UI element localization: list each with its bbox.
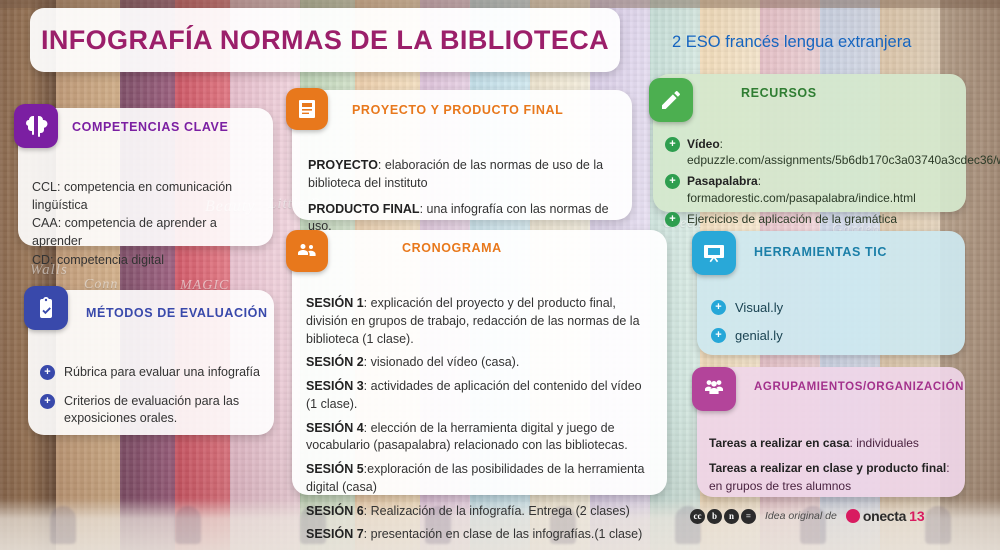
list-item[interactable]: + Vídeo: edpuzzle.com/assignments/5b6db1… (665, 136, 954, 168)
list-item-text: Vídeo: edpuzzle.com/assignments/5b6db170… (687, 136, 1000, 168)
cc-sa-icon: = (741, 509, 756, 524)
metodos-evaluacion-title: MÉTODOS DE EVALUACIÓN (86, 306, 274, 320)
session-label: SESIÓN 3 (306, 379, 364, 393)
list-item: + Criterios de evaluación para las expos… (40, 393, 262, 427)
agrupamiento-label: Tareas a realizar en clase y producto fi… (709, 461, 946, 475)
cc-nc-icon: n (724, 509, 739, 524)
herramientas-tic-title: HERRAMIENTAS TIC (754, 245, 965, 259)
recursos-title: RECURSOS (741, 86, 966, 100)
cc-icon: cc (690, 509, 705, 524)
recursos-list: + Vídeo: edpuzzle.com/assignments/5b6db1… (665, 136, 954, 227)
subject-label: 2 ESO francés lengua extranjera (672, 33, 911, 52)
brain-icon (14, 104, 58, 148)
competencias-clave-body: CCL: competencia en comunicación lingüís… (32, 178, 259, 269)
list-item[interactable]: + Ejercicios de aplicación de la gramáti… (665, 211, 954, 227)
footer: cc b n = Idea original de onecta 13 (690, 508, 925, 524)
session-label: SESIÓN 4 (306, 421, 364, 435)
list-item-text: Ejercicios de aplicación de la gramática (687, 211, 897, 227)
cronograma-session: SESIÓN 7: presentación en clase de las i… (306, 526, 653, 544)
session-label: SESIÓN 6 (306, 504, 364, 518)
plus-bullet-icon: + (40, 365, 55, 380)
list-item-label: Visual.ly (735, 299, 783, 317)
session-label: SESIÓN 7 (306, 527, 364, 541)
list-item[interactable]: + Visual.ly (711, 299, 953, 317)
session-label: SESIÓN 1 (306, 296, 364, 310)
list-item-label: Criterios de evaluación para las exposic… (64, 393, 262, 427)
cronograma-session: SESIÓN 5:exploración de las posibilidade… (306, 461, 653, 497)
list-item-label: Rúbrica para evaluar una infografía (64, 364, 260, 381)
ghost-figure (925, 506, 951, 544)
agrupamientos-body: Tareas a realizar en casa: individuales … (709, 435, 955, 495)
agrupamiento-row: Tareas a realizar en casa: individuales (709, 435, 955, 452)
agrupamiento-row: Tareas a realizar en clase y producto fi… (709, 460, 955, 495)
plus-bullet-icon: + (665, 212, 680, 227)
agrupamiento-text: : individuales (850, 436, 919, 450)
agrupamientos-title: AGRUPAMIENTOS/ORGANIZACIÓN (754, 381, 965, 393)
session-text: : visionado del vídeo (casa). (364, 355, 520, 369)
cronograma-session: SESIÓN 4: elección de la herramienta dig… (306, 420, 653, 456)
session-label: SESIÓN 5 (306, 462, 364, 476)
list-item: + Rúbrica para evaluar una infografía (40, 364, 262, 381)
competencia-line: CAA: competencia de aprender a aprender (32, 214, 259, 250)
conecta-wordmark: onecta (863, 508, 906, 524)
competencias-clave-card: COMPETENCIAS CLAVE CCL: competencia en c… (18, 108, 273, 246)
cronograma-session: SESIÓN 1: explicación del proyecto y del… (306, 295, 653, 348)
proyecto-producto-body: PROYECTO: elaboración de las normas de u… (308, 157, 616, 236)
proyecto-producto-title: PROYECTO Y PRODUCTO FINAL (352, 103, 632, 117)
cronograma-session: SESIÓN 3: actividades de aplicación del … (306, 378, 653, 414)
pencil-icon (649, 78, 693, 122)
cronograma-title: CRONOGRAMA (402, 241, 667, 255)
competencia-line: CCL: competencia en comunicación lingüís… (32, 178, 259, 214)
infographic-canvas: Beauty Little Princess MAGIC Green Garde… (0, 0, 1000, 550)
page-title: INFOGRAFÍA NORMAS DE LA BIBLIOTECA (41, 25, 609, 56)
recurso-label: Vídeo (687, 137, 720, 151)
footer-credit: Idea original de (765, 510, 837, 522)
list-item-label: genial.ly (735, 327, 783, 345)
cronograma-session: SESIÓN 2: visionado del vídeo (casa). (306, 354, 653, 372)
herramientas-tic-list: + Visual.ly + genial.ly (711, 299, 953, 344)
metodos-evaluacion-card: MÉTODOS DE EVALUACIÓN + Rúbrica para eva… (28, 290, 274, 435)
agrupamientos-card: AGRUPAMIENTOS/ORGANIZACIÓN Tareas a real… (697, 367, 965, 497)
ghost-figure (175, 506, 201, 544)
presentation-screen-icon (692, 231, 736, 275)
list-item[interactable]: + Pasapalabra: formadorestic.com/pasapal… (665, 173, 954, 205)
cronograma-session: SESIÓN 6: Realización de la infografía. … (306, 503, 653, 521)
document-icon (286, 88, 328, 130)
producto-final-label: PRODUCTO FINAL (308, 202, 420, 216)
metodos-evaluacion-list: + Rúbrica para evaluar una infografía + … (40, 364, 262, 427)
competencias-clave-title: COMPETENCIAS CLAVE (72, 120, 273, 134)
page-title-card: INFOGRAFÍA NORMAS DE LA BIBLIOTECA (30, 8, 620, 72)
plus-bullet-icon: + (711, 328, 726, 343)
list-item[interactable]: + genial.ly (711, 327, 953, 345)
cronograma-card: CRONOGRAMA SESIÓN 1: explicación del pro… (292, 230, 667, 495)
gears-people-icon (286, 230, 328, 272)
recurso-url: : edpuzzle.com/assignments/5b6db170c3a03… (687, 137, 1000, 167)
plus-bullet-icon: + (665, 137, 680, 152)
cc-by-icon: b (707, 509, 722, 524)
cronograma-body: SESIÓN 1: explicación del proyecto y del… (306, 295, 653, 544)
recurso-label: Pasapalabra (687, 174, 758, 188)
plus-bullet-icon: + (665, 174, 680, 189)
session-label: SESIÓN 2 (306, 355, 364, 369)
plus-bullet-icon: + (40, 394, 55, 409)
herramientas-tic-card: HERRAMIENTAS TIC + Visual.ly + genial.ly (697, 231, 965, 355)
competencia-line: CD: competencia digital (32, 251, 259, 269)
conecta-mark-icon (846, 509, 860, 523)
clipboard-check-icon (24, 286, 68, 330)
conecta-number: 13 (909, 508, 925, 524)
plus-bullet-icon: + (711, 300, 726, 315)
session-text: : Realización de la infografía. Entrega … (364, 504, 630, 518)
proyecto-producto-card: PROYECTO Y PRODUCTO FINAL PROYECTO: elab… (292, 90, 632, 220)
conecta13-logo: onecta 13 (846, 508, 925, 524)
proyecto-paragraph: PROYECTO: elaboración de las normas de u… (308, 157, 616, 193)
ghost-figure (50, 506, 76, 544)
creative-commons-icons: cc b n = (690, 509, 756, 524)
proyecto-label: PROYECTO (308, 158, 378, 172)
session-text: : presentación en clase de las infografí… (364, 527, 643, 541)
recursos-card: RECURSOS + Vídeo: edpuzzle.com/assignmen… (653, 74, 966, 212)
people-group-icon (692, 367, 736, 411)
list-item-text: Pasapalabra: formadorestic.com/pasapalab… (687, 173, 954, 205)
agrupamiento-label: Tareas a realizar en casa (709, 436, 850, 450)
